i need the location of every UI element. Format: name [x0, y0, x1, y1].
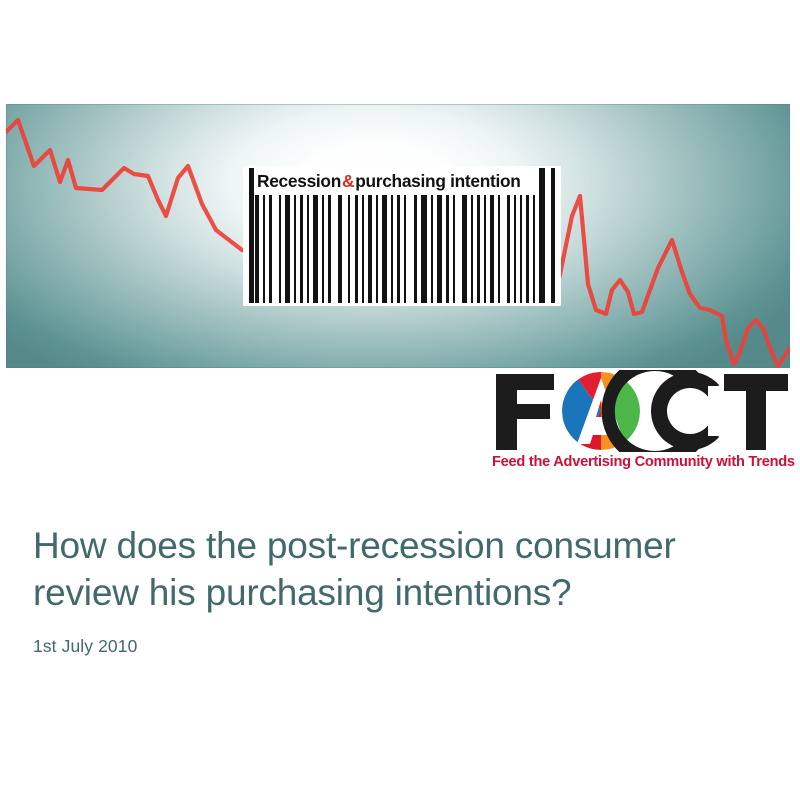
barcode-caption-suffix: purchasing intention [355, 171, 520, 192]
barcode-caption: Recession & purchasing intention [257, 168, 544, 194]
logo-letter-f [496, 374, 554, 450]
slide-root: { "slide": { "title": "How does the post… [0, 0, 800, 800]
slide-date: 1st July 2010 [33, 636, 753, 657]
barcode-guard-right-inner [539, 168, 545, 303]
logo-letter-a-mark [562, 372, 640, 450]
fact-logo: Feed the Advertising Community with Tren… [492, 370, 790, 478]
barcode-graphic: Recession & purchasing intention [243, 166, 561, 306]
barcode-guard-left [249, 168, 254, 303]
barcode-caption-prefix: Recession [257, 171, 341, 192]
fact-wordmark [492, 370, 790, 452]
barcode-bars [249, 195, 555, 303]
title-block: How does the post-recession consumer rev… [33, 522, 753, 657]
hero-banner: Recession & purchasing intention [6, 104, 790, 368]
logo-tagline: Feed the Advertising Community with Tren… [492, 454, 790, 470]
barcode-caption-ampersand: & [341, 171, 355, 192]
page-title: How does the post-recession consumer rev… [33, 522, 753, 616]
barcode-guard-right-outer [551, 168, 555, 303]
